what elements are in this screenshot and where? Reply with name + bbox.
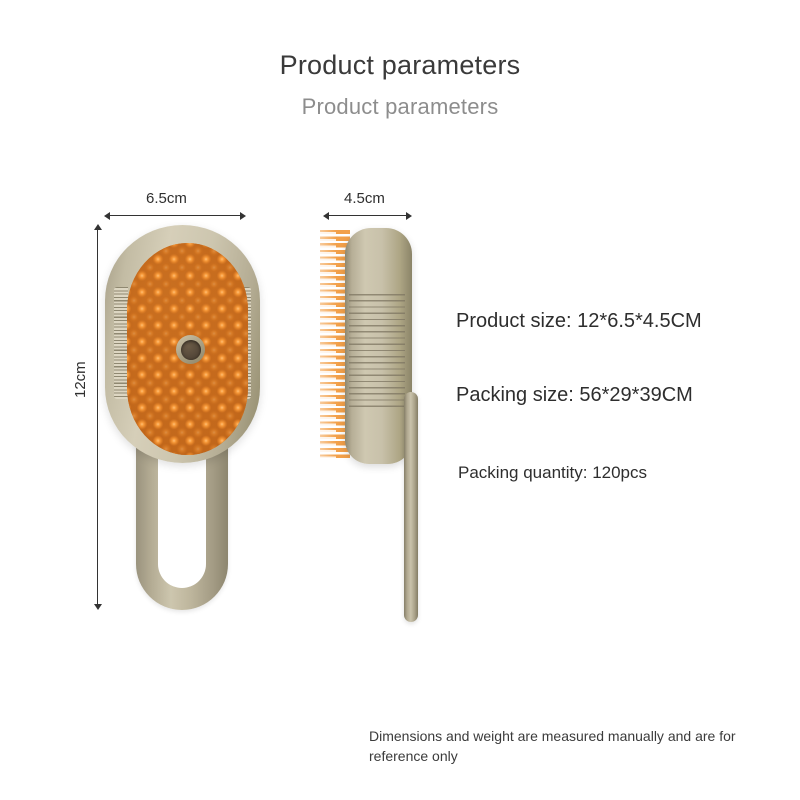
brush-silicone-pad: [127, 243, 248, 455]
comb-teeth-strip-left: [114, 287, 128, 399]
brush-body-ribs: [349, 294, 405, 407]
arrow-head-right-icon: [240, 212, 246, 220]
page-title: Product parameters: [0, 50, 800, 81]
measurement-disclaimer: Dimensions and weight are measured manua…: [369, 726, 779, 767]
product-image-side-view: [316, 222, 426, 627]
product-image-front-view: [100, 220, 265, 615]
brush-bristles-taper: [320, 230, 336, 458]
dimension-label-side-width: 4.5cm: [344, 190, 385, 207]
arrow-shaft: [108, 215, 242, 216]
brush-handle-opening: [158, 456, 206, 588]
arrow-shaft: [327, 215, 408, 216]
brush-center-hole: [181, 340, 201, 360]
brush-handle-side: [404, 392, 418, 622]
spec-packing-size: Packing size: 56*29*39CM: [456, 384, 693, 407]
dimension-arrow-side-width: [323, 211, 412, 220]
spec-product-size: Product size: 12*6.5*4.5CM: [456, 310, 702, 333]
arrow-head-right-icon: [406, 212, 412, 220]
brush-outer-shell: [105, 225, 260, 463]
product-parameters-page: Product parameters Product parameters 6.…: [0, 0, 800, 800]
arrow-shaft: [97, 228, 98, 606]
page-subtitle: Product parameters: [0, 94, 800, 120]
dimension-label-front-height: 12cm: [72, 361, 89, 398]
dimension-label-front-width: 6.5cm: [146, 190, 187, 207]
dimension-arrow-front-width: [104, 211, 246, 220]
spec-packing-quantity: Packing quantity: 120pcs: [458, 463, 647, 483]
